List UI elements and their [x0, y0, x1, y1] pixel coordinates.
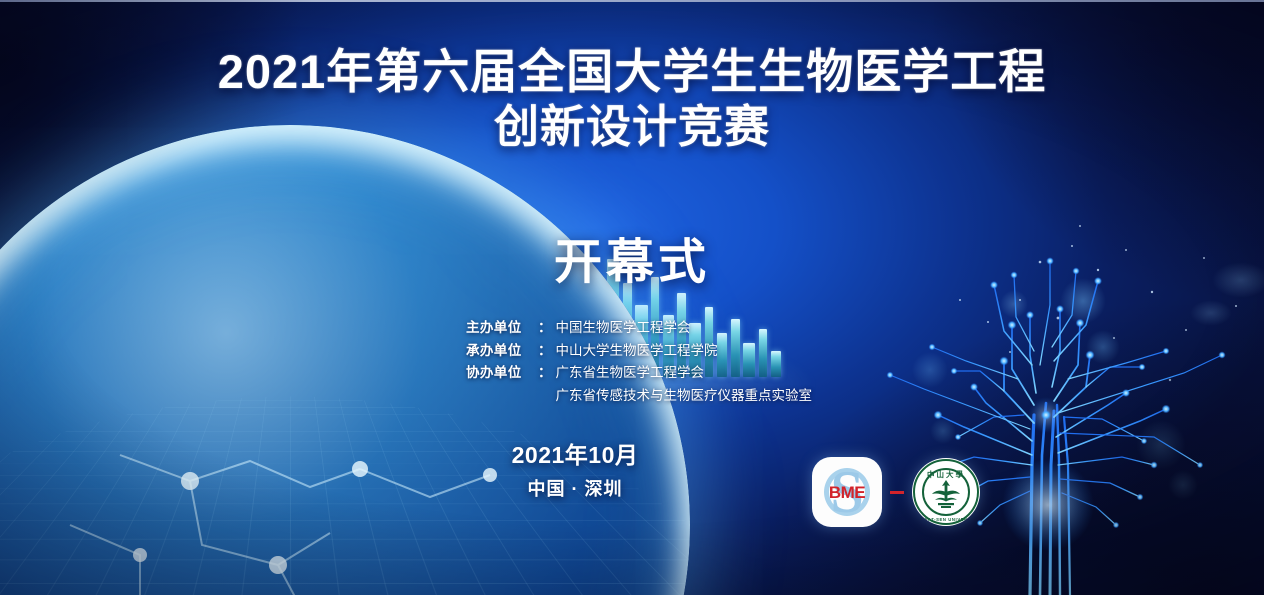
event-location: 中国 · 深圳 [425, 475, 725, 501]
organizers-block: 主办单位 ： 中国生物医学工程学会 承办单位 ： 中山大学生物医学工程学院 协办… [466, 317, 812, 407]
organizer-label: 承办单位 [466, 340, 538, 363]
logo-row: S BME 中国生物医学工程学会 BME 会徽 中山大學 SUN YAT-SEN… [812, 457, 980, 527]
page-title: 2021年第六届全国大学生生物医学工程 创新设计竞赛 [0, 44, 1264, 154]
event-date: 2021年10月 [425, 436, 725, 470]
sysu-english-name: SUN YAT-SEN UNIVERSITY [912, 517, 980, 522]
subtitle-opening-ceremony: 开幕式 [0, 222, 1264, 292]
organizer-value: 中国生物医学工程学会 [556, 317, 691, 340]
organizer-row: 协办单位 ： 广东省生物医学工程学会 [466, 362, 812, 385]
organizer-row: 主办单位 ： 中国生物医学工程学会 [466, 317, 812, 340]
organizer-row: 承办单位 ： 中山大学生物医学工程学院 [466, 340, 812, 363]
organizer-row: 协办单位 ： 广东省传感技术与生物医疗仪器重点实验室 [466, 385, 812, 408]
organizer-value: 中山大学生物医学工程学院 [556, 340, 718, 363]
organizer-colon: ： [538, 362, 552, 385]
sysu-logo: 中山大學 SUN YAT-SEN UNIVERSITY 中山大学校徽 [912, 458, 980, 526]
bme-wordmark: BME [812, 483, 882, 503]
top-border-line [0, 0, 1264, 2]
logo-connector-dash [890, 491, 904, 494]
sysu-emblem-mark [928, 478, 964, 510]
bme-logo: S BME 中国生物医学工程学会 BME 会徽 [812, 457, 882, 527]
conference-opening-poster: 2021年第六届全国大学生生物医学工程 创新设计竞赛 开幕式 主办单位 ： 中国… [0, 0, 1264, 595]
organizer-colon: ： [538, 340, 552, 363]
event-when-where: 2021年10月 中国 · 深圳 [425, 436, 725, 501]
organizer-label: 协办单位 [466, 362, 538, 385]
organizer-label: 主办单位 [466, 317, 538, 340]
sysu-logo-alt: 中山大学校徽 [912, 458, 913, 459]
organizer-value: 广东省传感技术与生物医疗仪器重点实验室 [556, 385, 813, 408]
title-line-2: 创新设计竞赛 [0, 100, 1264, 154]
organizer-colon: ： [538, 317, 552, 340]
bme-logo-alt: 中国生物医学工程学会 BME 会徽 [812, 457, 813, 458]
title-line-1: 2021年第六届全国大学生生物医学工程 [0, 44, 1264, 100]
organizer-value: 广东省生物医学工程学会 [556, 362, 705, 385]
